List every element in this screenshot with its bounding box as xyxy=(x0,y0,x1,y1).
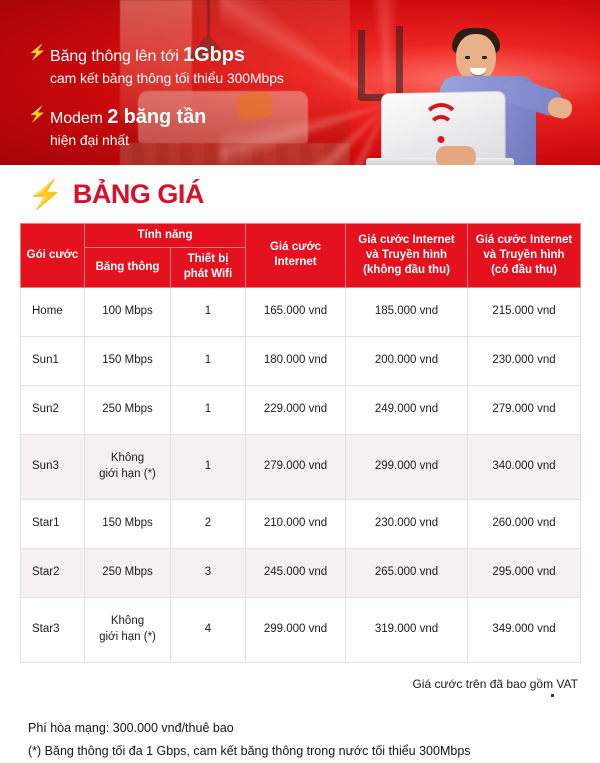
header-tv-no-box-l3: (không đầu thu) xyxy=(348,263,465,278)
wifi-dot xyxy=(438,136,445,143)
cell-tv-no-box: 200.000 vnd xyxy=(346,336,468,385)
cell-wifi-device: 1 xyxy=(171,434,246,499)
cell-internet-price: 180.000 vnd xyxy=(246,336,346,385)
person-illustration xyxy=(420,18,560,165)
pricing-table-head: Gói cước Tính năng Giá cước Internet Giá… xyxy=(21,224,581,288)
header-tv-box-l1: Giá cước Internet xyxy=(470,233,578,248)
cell-bandwidth-l2: giới hạn (*) xyxy=(87,467,168,483)
table-row: Sun2250 Mbps1229.000 vnd249.000 vnd279.0… xyxy=(21,385,581,434)
header-wifi-device-l1: Thiết bị xyxy=(173,252,243,267)
cell-bandwidth-l1: 100 Mbps xyxy=(87,304,168,320)
lamp-pole-shape xyxy=(207,0,210,36)
cell-bandwidth: 150 Mbps xyxy=(85,499,171,548)
cell-internet-price: 210.000 vnd xyxy=(246,499,346,548)
cell-tv-box: 349.000 vnd xyxy=(468,597,581,662)
cell-tv-no-box: 230.000 vnd xyxy=(346,499,468,548)
header-tv-no-box-l1: Giá cước Internet xyxy=(348,233,465,248)
page-title: BẢNG GIÁ xyxy=(73,179,204,210)
header-internet-price-l1: Giá cước xyxy=(248,240,343,255)
cell-package: Sun1 xyxy=(21,336,85,385)
table-row: Star2250 Mbps3245.000 vnd265.000 vnd295.… xyxy=(21,548,581,597)
header-internet-price-l2: Internet xyxy=(248,255,343,270)
cell-wifi-device: 1 xyxy=(171,385,246,434)
cell-tv-no-box: 265.000 vnd xyxy=(346,548,468,597)
cell-tv-no-box: 319.000 vnd xyxy=(346,597,468,662)
page-speck xyxy=(551,694,554,697)
cell-package: Home xyxy=(21,287,85,336)
cell-tv-box: 279.000 vnd xyxy=(468,385,581,434)
vat-note: Giá cước trên đã bao gồm VAT xyxy=(0,677,578,691)
bolt-icon: ⚡ xyxy=(28,45,40,60)
pricing-table-wrapper: Gói cước Tính năng Giá cước Internet Giá… xyxy=(20,223,580,663)
bolt-icon: ⚡ xyxy=(28,107,40,122)
cell-bandwidth-l1: Không xyxy=(87,451,168,467)
footer-notes: Phí hòa mạng: 300.000 vnđ/thuê bao (*) B… xyxy=(28,717,600,763)
banner-bullet-0: ⚡ Băng thông lên tới 1Gbps cam kết băng … xyxy=(28,42,328,88)
banner-bullet-1-strong: 2 băng tần xyxy=(107,106,206,128)
cell-package: Sun3 xyxy=(21,434,85,499)
cell-package: Star1 xyxy=(21,499,85,548)
banner-bullet-0-line2: cam kết băng thông tối thiểu 300Mbps xyxy=(50,69,284,87)
note-unlimited-bandwidth: (*) Băng thông tối đa 1 Gbps, cam kết bă… xyxy=(28,740,600,763)
cell-wifi-device: 2 xyxy=(171,499,246,548)
cell-package: Star2 xyxy=(21,548,85,597)
banner-bullet-1-line2: hiện đại nhất xyxy=(50,131,206,149)
header-wifi-device: Thiết bị phát Wifi xyxy=(171,248,246,287)
cell-tv-no-box: 249.000 vnd xyxy=(346,385,468,434)
header-tv-box-l3: (có đầu thu) xyxy=(470,263,578,278)
person-eye-left xyxy=(465,56,470,59)
header-tv-no-box-l2: và Truyền hình xyxy=(348,248,465,263)
table-row: Star3Khônggiới hạn (*)4299.000 vnd319.00… xyxy=(21,597,581,662)
person-holding-hand xyxy=(436,146,476,165)
banner-bullet-1-prefix: Modem xyxy=(50,110,107,127)
cell-bandwidth-l1: 150 Mbps xyxy=(87,516,168,532)
banner-bullet-0-line1: Băng thông lên tới 1Gbps xyxy=(50,48,245,65)
cell-tv-no-box: 185.000 vnd xyxy=(346,287,468,336)
bolt-icon: ⚡ xyxy=(28,181,63,209)
cell-tv-box: 260.000 vnd xyxy=(468,499,581,548)
banner-bullet-1-text: Modem 2 băng tần hiện đại nhất xyxy=(50,104,206,150)
wifi-icon xyxy=(421,115,461,145)
cell-tv-no-box: 299.000 vnd xyxy=(346,434,468,499)
banner-bullet-0-text: Băng thông lên tới 1Gbps cam kết băng th… xyxy=(50,42,284,88)
header-tv-no-box: Giá cước Internet và Truyền hình (không … xyxy=(346,224,468,288)
cell-package: Sun2 xyxy=(21,385,85,434)
header-bandwidth: Băng thông xyxy=(85,248,171,287)
cell-tv-box: 215.000 vnd xyxy=(468,287,581,336)
banner-bullet-1-line1: Modem 2 băng tần xyxy=(50,110,206,127)
cell-wifi-device: 1 xyxy=(171,287,246,336)
numeral-diagonal xyxy=(358,30,365,100)
table-row: Sun1150 Mbps1180.000 vnd200.000 vnd230.0… xyxy=(21,336,581,385)
cell-wifi-device: 3 xyxy=(171,548,246,597)
cell-tv-box: 340.000 vnd xyxy=(468,434,581,499)
header-wifi-device-l2: phát Wifi xyxy=(173,267,243,282)
table-row: Star1150 Mbps2210.000 vnd230.000 vnd260.… xyxy=(21,499,581,548)
banner-bullet-0-prefix: Băng thông lên tới xyxy=(50,48,183,65)
header-features: Tính năng xyxy=(85,224,246,248)
section-title-row: ⚡ BẢNG GIÁ xyxy=(28,179,600,210)
pricing-table: Gói cước Tính năng Giá cước Internet Giá… xyxy=(20,223,581,663)
header-tv-box: Giá cước Internet và Truyền hình (có đầu… xyxy=(468,224,581,288)
cell-bandwidth: 150 Mbps xyxy=(85,336,171,385)
promo-banner: ⚡ Băng thông lên tới 1Gbps cam kết băng … xyxy=(0,0,600,165)
cell-internet-price: 279.000 vnd xyxy=(246,434,346,499)
cell-wifi-device: 1 xyxy=(171,336,246,385)
header-tv-box-l2: và Truyền hình xyxy=(470,248,578,263)
pricing-table-body: Home100 Mbps1165.000 vnd185.000 vnd215.0… xyxy=(21,287,581,662)
cell-wifi-device: 4 xyxy=(171,597,246,662)
banner-bullet-0-strong: 1Gbps xyxy=(183,44,245,66)
cell-bandwidth-l1: Không xyxy=(87,614,168,630)
cell-bandwidth: Khônggiới hạn (*) xyxy=(85,434,171,499)
cell-bandwidth: 250 Mbps xyxy=(85,385,171,434)
cell-bandwidth: 100 Mbps xyxy=(85,287,171,336)
cell-bandwidth-l1: 150 Mbps xyxy=(87,353,168,369)
cell-bandwidth-l1: 250 Mbps xyxy=(87,565,168,581)
cell-package: Star3 xyxy=(21,597,85,662)
cell-internet-price: 245.000 vnd xyxy=(246,548,346,597)
cell-internet-price: 229.000 vnd xyxy=(246,385,346,434)
cell-tv-box: 230.000 vnd xyxy=(468,336,581,385)
cell-tv-box: 295.000 vnd xyxy=(468,548,581,597)
note-installation-fee: Phí hòa mạng: 300.000 vnđ/thuê bao xyxy=(28,717,600,740)
cell-internet-price: 165.000 vnd xyxy=(246,287,346,336)
banner-bullet-1: ⚡ Modem 2 băng tần hiện đại nhất xyxy=(28,104,328,150)
person-eye-right xyxy=(482,56,487,59)
cell-bandwidth-l2: giới hạn (*) xyxy=(87,630,168,646)
header-row-top: Gói cước Tính năng Giá cước Internet Giá… xyxy=(21,224,581,248)
cell-bandwidth-l1: 250 Mbps xyxy=(87,402,168,418)
header-internet-price: Giá cước Internet xyxy=(246,224,346,288)
banner-bullet-list: ⚡ Băng thông lên tới 1Gbps cam kết băng … xyxy=(28,42,328,165)
table-row: Sun3Khônggiới hạn (*)1279.000 vnd299.000… xyxy=(21,434,581,499)
cell-bandwidth: 250 Mbps xyxy=(85,548,171,597)
header-package: Gói cước xyxy=(21,224,85,288)
cell-bandwidth: Khônggiới hạn (*) xyxy=(85,597,171,662)
cell-internet-price: 299.000 vnd xyxy=(246,597,346,662)
table-row: Home100 Mbps1165.000 vnd185.000 vnd215.0… xyxy=(21,287,581,336)
